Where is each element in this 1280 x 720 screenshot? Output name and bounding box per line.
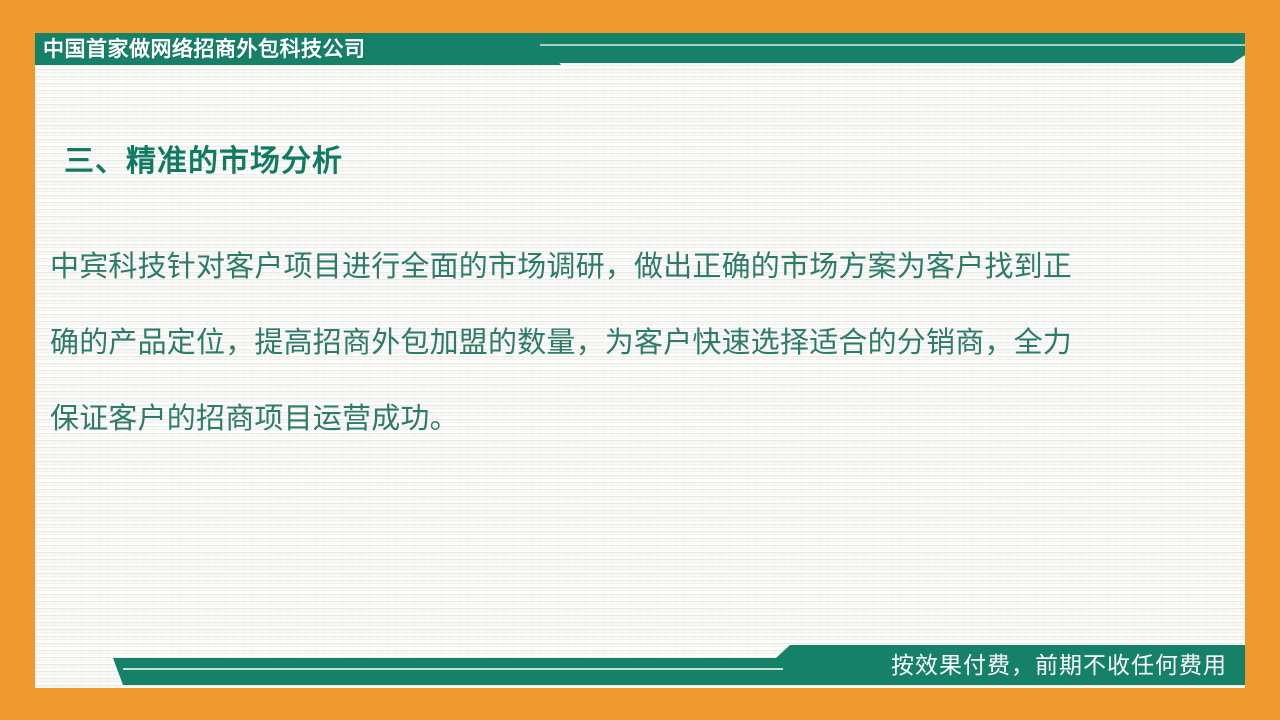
header-banner: 中国首家做网络招商外包科技公司 bbox=[35, 33, 1245, 65]
presentation-slide: 中国首家做网络招商外包科技公司 三、精准的市场分析 中宾科技针对客户项目进行全面… bbox=[0, 0, 1280, 720]
slide-body-paragraph: 中宾科技针对客户项目进行全面的市场调研，做出正确的市场方案为客户找到正 确的产品… bbox=[50, 228, 1185, 456]
header-banner-divider-line bbox=[540, 44, 1245, 46]
footer-banner: 按效果付费，前期不收任何费用 bbox=[35, 645, 1245, 688]
header-title: 中国首家做网络招商外包科技公司 bbox=[43, 34, 366, 66]
footer-tagline: 按效果付费，前期不收任何费用 bbox=[891, 649, 1227, 685]
body-line-1: 中宾科技针对客户项目进行全面的市场调研，做出正确的市场方案为客户找到正 bbox=[50, 228, 1185, 304]
body-line-2: 确的产品定位，提高招商外包加盟的数量，为客户快速选择适合的分销商，全力 bbox=[50, 304, 1185, 380]
body-line-3: 保证客户的招商项目运营成功。 bbox=[50, 380, 1185, 456]
footer-banner-divider-line bbox=[123, 668, 783, 670]
slide-heading: 三、精准的市场分析 bbox=[64, 136, 343, 180]
